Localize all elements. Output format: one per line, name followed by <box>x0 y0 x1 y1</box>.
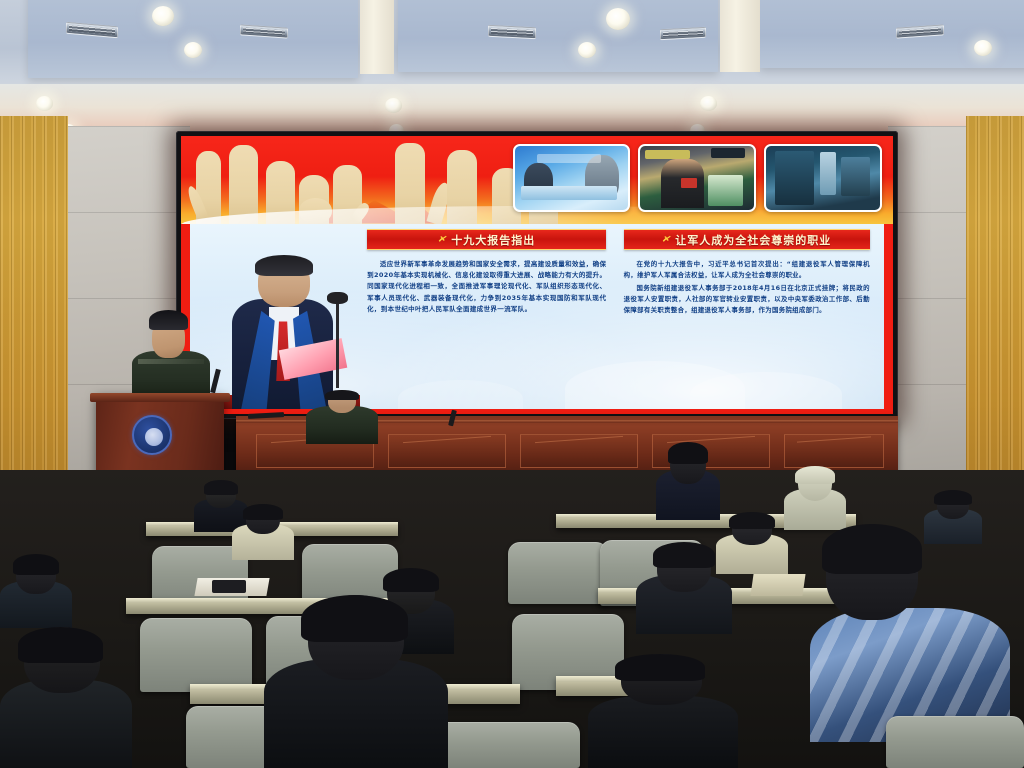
paragraph: 适应世界新军事革命发展趋势和国家安全需求，提高建设质量和效益，确保到2020年基… <box>367 259 606 315</box>
ceiling-panel <box>28 0 358 78</box>
slide-content-area: 十九大报告指出 适应世界新军事革命发展趋势和国家安全需求，提高建设质量和效益，确… <box>190 224 883 409</box>
table-microphone <box>248 412 284 419</box>
paragraph: 在党的十九大报告中，习近平总书记首次提出：“组建退役军人管理保障机构，维护军人军… <box>624 259 870 281</box>
notebook-on-desk <box>750 574 805 596</box>
presenter-at-lectern <box>132 312 210 404</box>
audience-member <box>656 442 720 520</box>
phone-on-desk <box>212 580 246 593</box>
slide-banner <box>181 136 893 224</box>
chair[interactable] <box>886 716 1024 768</box>
ribbon-title-left: 十九大报告指出 <box>367 229 606 250</box>
audience-member-hooded <box>784 466 846 530</box>
ceiling-panel <box>760 0 1024 68</box>
paragraph: 国务院新组建退役军人事务部于2018年4月16日在北京正式挂牌；将民政的退役军人… <box>624 283 870 316</box>
audience-member-light-hoodie <box>232 504 294 560</box>
banner-photo-strip <box>513 144 882 212</box>
audience-member <box>636 542 732 634</box>
downlight-icon <box>974 40 992 56</box>
downlight-icon <box>36 96 53 111</box>
ceiling-rib <box>360 0 394 74</box>
audience-member-foreground <box>588 656 738 768</box>
screenshot-root: 十九大报告指出 适应世界新军事革命发展趋势和国家安全需求，提高建设质量和效益，确… <box>0 0 1024 768</box>
party-emblem-icon <box>438 235 447 244</box>
slide-column-right: 让军人成为全社会尊崇的职业 在党的十九大报告中，习近平总书记首次提出：“组建退役… <box>624 229 870 405</box>
ribbon-left-text: 十九大报告指出 <box>451 232 535 248</box>
chair[interactable] <box>140 618 252 692</box>
downlight-icon <box>152 6 174 26</box>
presentation-slide: 十九大报告指出 适应世界新军事革命发展趋势和国家安全需求，提高建设质量和效益，确… <box>181 136 893 414</box>
wall-stone-panel-right <box>888 126 976 478</box>
photo-veteran-holding-red-card <box>638 144 756 212</box>
audience-member-striped-jacket <box>810 532 1010 742</box>
ribbon-title-right: 让军人成为全社会尊崇的职业 <box>624 229 870 250</box>
audience-member-foreground <box>264 598 448 768</box>
chair[interactable] <box>508 542 608 604</box>
audience-member-foreground <box>0 630 132 768</box>
ceiling <box>0 0 1024 128</box>
ceiling-rib <box>720 0 760 72</box>
institution-crest-icon <box>132 415 172 455</box>
downlight-icon <box>385 98 402 113</box>
party-emblem-icon <box>662 235 671 244</box>
leader-portrait <box>208 234 361 410</box>
chair[interactable] <box>430 722 580 768</box>
audience-area <box>0 470 1024 768</box>
downlight-icon <box>700 96 717 111</box>
pendant-light-icon <box>606 8 630 30</box>
seated-officer <box>306 392 378 444</box>
downlight-icon <box>578 42 596 58</box>
downlight-icon <box>184 42 202 58</box>
photo-veterans-service-counter <box>513 144 631 212</box>
audience-member <box>0 554 72 628</box>
led-wall-display[interactable]: 十九大报告指出 适应世界新军事革命发展趋势和国家安全需求，提高建设质量和效益，确… <box>176 131 898 419</box>
ribbon-right-text: 让军人成为全社会尊崇的职业 <box>675 232 831 248</box>
air-vent-icon <box>488 25 536 40</box>
photo-veterans-service-center-entrance <box>764 144 882 212</box>
slide-column-left: 十九大报告指出 适应世界新军事革命发展趋势和国家安全需求，提高建设质量和效益，确… <box>367 229 606 405</box>
